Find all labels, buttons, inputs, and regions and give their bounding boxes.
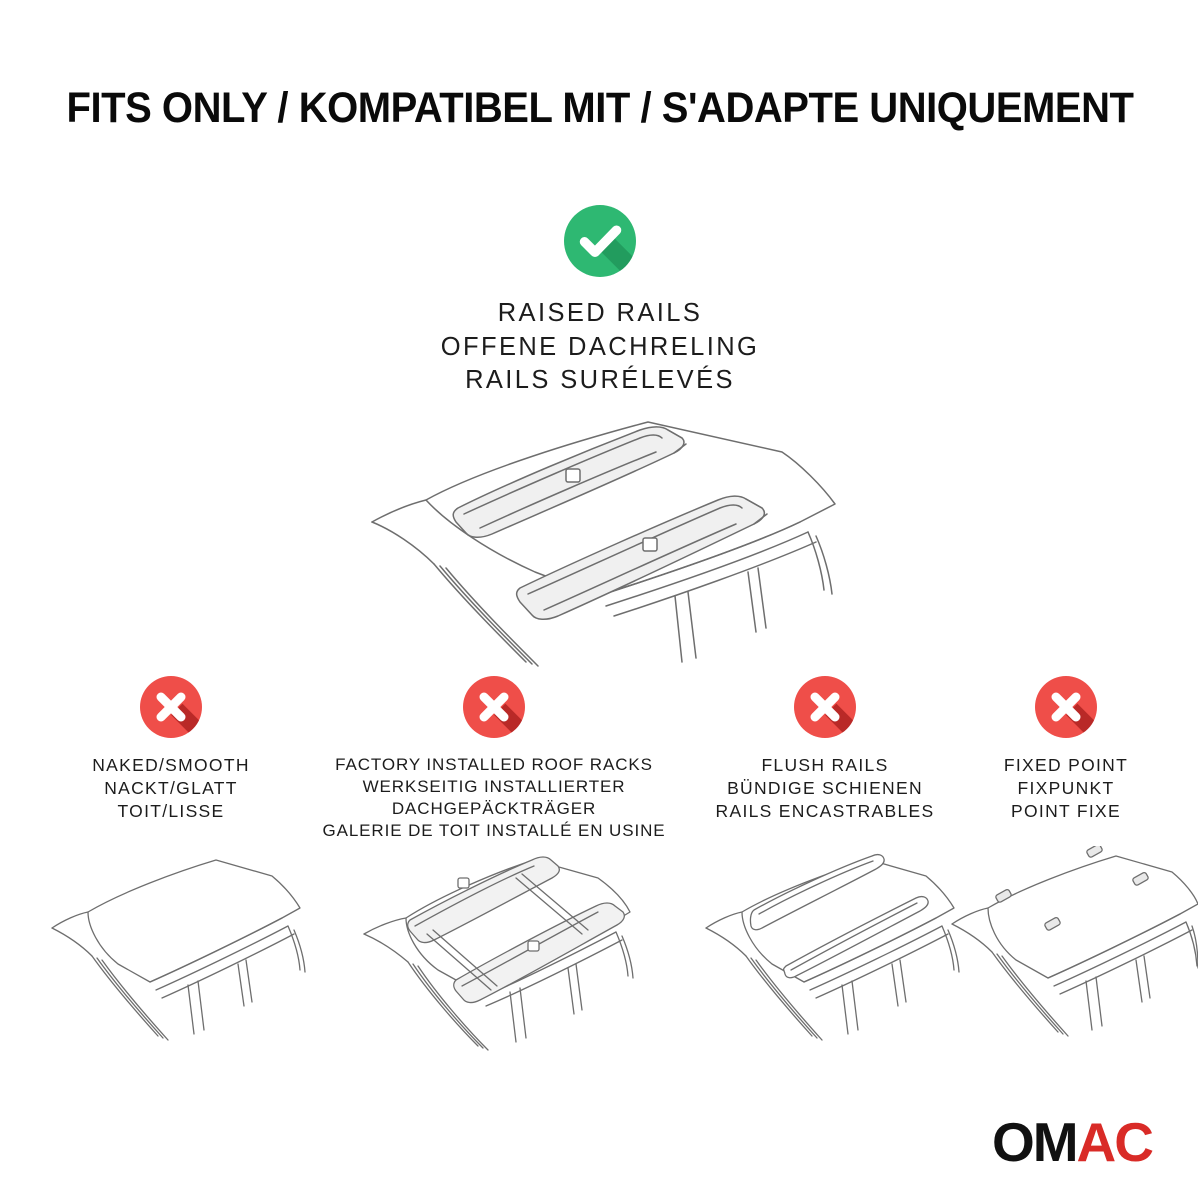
label-line-3: RAILS ENCASTRABLES: [690, 800, 960, 823]
label-line-3: DACHGEPÄCKTRÄGER: [306, 798, 682, 820]
logo-text-dark: OM: [992, 1115, 1077, 1170]
cross-glyph: [1035, 676, 1097, 738]
red-cross-icon: [1035, 676, 1097, 738]
omac-logo: OMAC: [992, 1116, 1152, 1168]
incompatible-item-factory-racks: FACTORY INSTALLED ROOF RACKS WERKSEITIG …: [306, 676, 682, 842]
label-line-4: GALERIE DE TOIT INSTALLÉ EN USINE: [306, 820, 682, 842]
incompatible-item-fixed-point: FIXED POINT FIXPUNKT POINT FIXE: [960, 676, 1172, 822]
compatible-label-de: OFFENE DACHRELING: [0, 331, 1200, 365]
page-title: FITS ONLY / KOMPATIBEL MIT / S'ADAPTE UN…: [42, 84, 1158, 133]
green-check-icon: [564, 205, 636, 277]
red-cross-icon: [463, 676, 525, 738]
incompatible-labels: FACTORY INSTALLED ROOF RACKS WERKSEITIG …: [306, 754, 682, 842]
label-line-1: FIXED POINT: [960, 754, 1172, 777]
compatible-label-fr: RAILS SURÉLEVÉS: [0, 364, 1200, 398]
label-line-2: WERKSEITIG INSTALLIERTER: [306, 776, 682, 798]
check-glyph: [564, 205, 636, 277]
incompatible-labels: FLUSH RAILS BÜNDIGE SCHIENEN RAILS ENCAS…: [690, 754, 960, 822]
label-line-1: FLUSH RAILS: [690, 754, 960, 777]
incompatible-labels: FIXED POINT FIXPUNKT POINT FIXE: [960, 754, 1172, 822]
red-cross-icon: [140, 676, 202, 738]
label-line-3: POINT FIXE: [960, 800, 1172, 823]
car-roof-naked-smooth-illustration: [36, 846, 306, 1081]
car-roof-factory-installed-racks-illustration: [306, 842, 682, 1082]
car-roof-flush-rails-illustration: [690, 846, 960, 1081]
label-line-3: TOIT/LISSE: [36, 800, 306, 823]
incompatible-labels: NAKED/SMOOTH NACKT/GLATT TOIT/LISSE: [36, 754, 306, 822]
logo-text-red: AC: [1077, 1115, 1152, 1170]
compatible-section: RAISED RAILS OFFENE DACHRELING RAILS SUR…: [0, 205, 1200, 398]
incompatible-section: NAKED/SMOOTH NACKT/GLATT TOIT/LISSE: [0, 676, 1200, 1096]
label-line-2: FIXPUNKT: [960, 777, 1172, 800]
label-line-2: BÜNDIGE SCHIENEN: [690, 777, 960, 800]
compatible-label-en: RAISED RAILS: [0, 297, 1200, 331]
car-roof-raised-rails-illustration: [330, 400, 870, 670]
compatible-labels: RAISED RAILS OFFENE DACHRELING RAILS SUR…: [0, 297, 1200, 398]
red-cross-icon: [794, 676, 856, 738]
cross-glyph: [463, 676, 525, 738]
label-line-1: FACTORY INSTALLED ROOF RACKS: [306, 754, 682, 776]
cross-glyph: [140, 676, 202, 738]
cross-glyph: [794, 676, 856, 738]
car-roof-fixed-point-illustration: [936, 846, 1172, 1081]
incompatible-item-flush-rails: FLUSH RAILS BÜNDIGE SCHIENEN RAILS ENCAS…: [690, 676, 960, 822]
incompatible-item-naked-smooth: NAKED/SMOOTH NACKT/GLATT TOIT/LISSE: [36, 676, 306, 822]
label-line-2: NACKT/GLATT: [36, 777, 306, 800]
label-line-1: NAKED/SMOOTH: [36, 754, 306, 777]
